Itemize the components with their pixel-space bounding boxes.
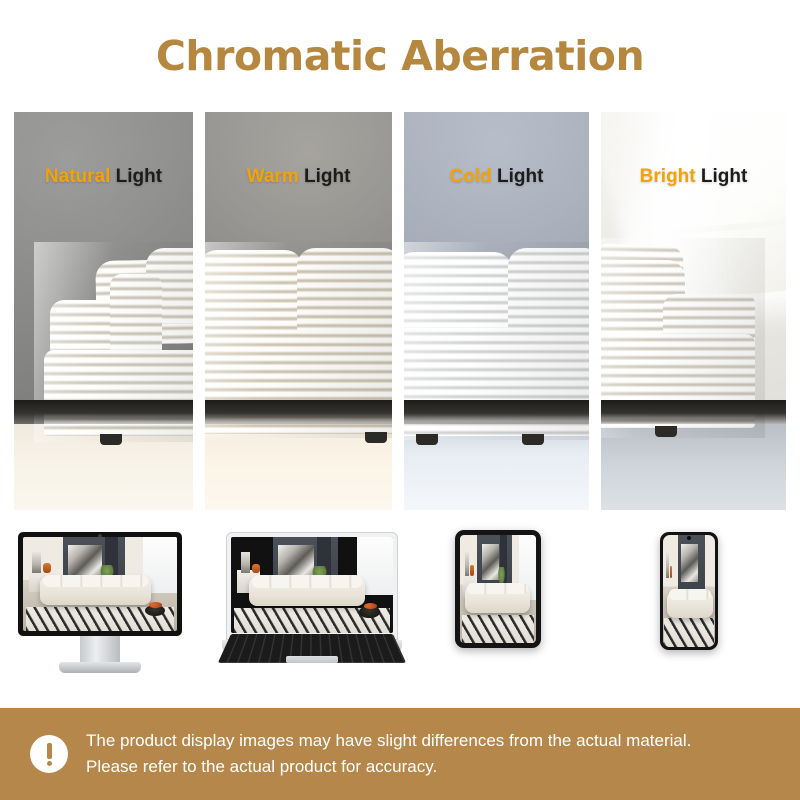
disclaimer-line-2: Please refer to the actual product for a… bbox=[86, 754, 691, 780]
monitor-screen-content bbox=[23, 537, 177, 631]
panel-bright-light[interactable]: Bright Light bbox=[601, 112, 786, 510]
panel-label-warm: Warm Light bbox=[205, 166, 392, 188]
laptop-screen-content bbox=[231, 537, 393, 633]
label-highlight-warm: Warm bbox=[247, 166, 299, 187]
device-smartphone[interactable] bbox=[660, 532, 718, 650]
label-plain-natural: Light bbox=[110, 166, 162, 187]
disclaimer-banner: The product display images may have slig… bbox=[0, 708, 800, 800]
disclaimer-line-1: The product display images may have slig… bbox=[86, 728, 691, 754]
infographic-canvas: Chromatic Aberration Natural Light bbox=[0, 0, 800, 800]
panel-cold-light[interactable]: Cold Light bbox=[404, 112, 589, 510]
label-highlight-cold: Cold bbox=[450, 166, 492, 187]
tablet-screen-content bbox=[460, 535, 536, 643]
panel-label-natural: Natural Light bbox=[14, 166, 193, 188]
label-plain-cold: Light bbox=[492, 166, 544, 187]
label-highlight-natural: Natural bbox=[45, 166, 110, 187]
panel-natural-light[interactable]: Natural Light bbox=[14, 112, 193, 510]
exclamation-icon bbox=[30, 735, 68, 773]
phone-screen-content bbox=[663, 535, 715, 647]
monitor-stand-neck bbox=[80, 636, 120, 663]
phone-bezel bbox=[660, 532, 718, 650]
phone-camera-icon bbox=[687, 536, 691, 540]
device-mockup-row bbox=[0, 510, 800, 700]
page-title: Chromatic Aberration bbox=[0, 32, 800, 80]
disclaimer-text: The product display images may have slig… bbox=[86, 728, 691, 780]
monitor-bezel bbox=[18, 532, 182, 636]
laptop-lid bbox=[226, 532, 398, 640]
floor-bright bbox=[601, 424, 786, 510]
label-highlight-bright: Bright bbox=[640, 166, 696, 187]
label-plain-warm: Light bbox=[299, 166, 351, 187]
panel-label-bright: Bright Light bbox=[601, 166, 786, 188]
label-plain-bright: Light bbox=[696, 166, 748, 187]
lighting-comparison-row: Natural Light Warm Light bbox=[14, 112, 786, 510]
laptop-base bbox=[222, 640, 402, 654]
monitor-stand-base bbox=[59, 662, 141, 673]
device-tablet[interactable] bbox=[455, 530, 541, 648]
floor-warm bbox=[205, 424, 392, 510]
device-laptop[interactable] bbox=[222, 532, 402, 654]
tablet-bezel bbox=[455, 530, 541, 648]
laptop-trackpad[interactable] bbox=[286, 656, 338, 663]
device-desktop-monitor[interactable] bbox=[18, 532, 182, 636]
panel-label-cold: Cold Light bbox=[404, 166, 589, 188]
panel-warm-light[interactable]: Warm Light bbox=[205, 112, 392, 510]
